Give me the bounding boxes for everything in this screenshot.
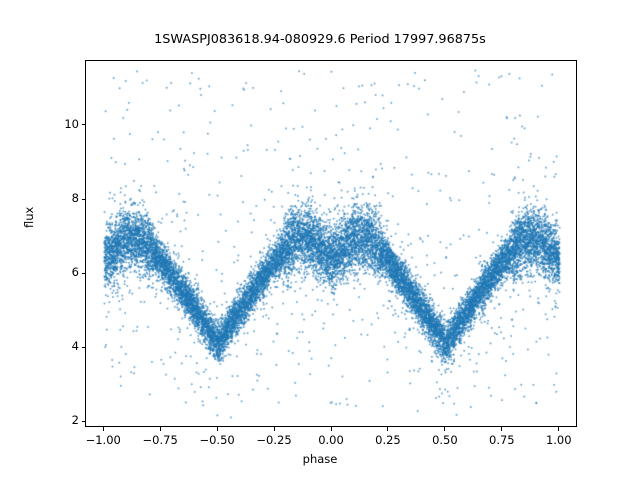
x-tick-label: 0.50	[415, 433, 475, 447]
x-tick-label: −0.75	[130, 433, 190, 447]
x-tick-label: 0.00	[301, 433, 361, 447]
x-tick-mark	[558, 427, 559, 431]
x-tick-label: −0.25	[244, 433, 304, 447]
x-tick-label: −1.00	[73, 433, 133, 447]
x-tick-mark	[501, 427, 502, 431]
x-tick-mark	[331, 427, 332, 431]
x-tick-mark	[274, 427, 275, 431]
x-tick-mark	[103, 427, 104, 431]
matplotlib-figure: 1SWASPJ083618.94-080929.6 Period 17997.9…	[0, 0, 640, 480]
x-tick-label: 0.25	[358, 433, 418, 447]
plot-axes	[85, 60, 577, 427]
y-tick-label: 8	[37, 191, 79, 205]
page-title: 1SWASPJ083618.94-080929.6 Period 17997.9…	[0, 32, 640, 47]
x-tick-label: 1.00	[529, 433, 589, 447]
x-tick-mark	[444, 427, 445, 431]
y-tick-mark	[82, 124, 86, 125]
y-tick-mark	[82, 273, 86, 274]
y-tick-mark	[82, 421, 86, 422]
y-tick-mark	[82, 347, 86, 348]
y-tick-label: 10	[37, 117, 79, 131]
x-tick-mark	[160, 427, 161, 431]
scatter-plot-canvas	[86, 61, 577, 427]
x-tick-mark	[387, 427, 388, 431]
y-tick-mark	[82, 199, 86, 200]
x-tick-mark	[217, 427, 218, 431]
x-tick-label: 0.75	[472, 433, 532, 447]
x-axis-label: phase	[0, 452, 640, 466]
y-tick-label: 2	[37, 413, 79, 427]
x-tick-label: −0.50	[187, 433, 247, 447]
y-axis-label: flux	[22, 207, 36, 228]
y-tick-label: 4	[37, 339, 79, 353]
y-tick-label: 6	[37, 265, 79, 279]
